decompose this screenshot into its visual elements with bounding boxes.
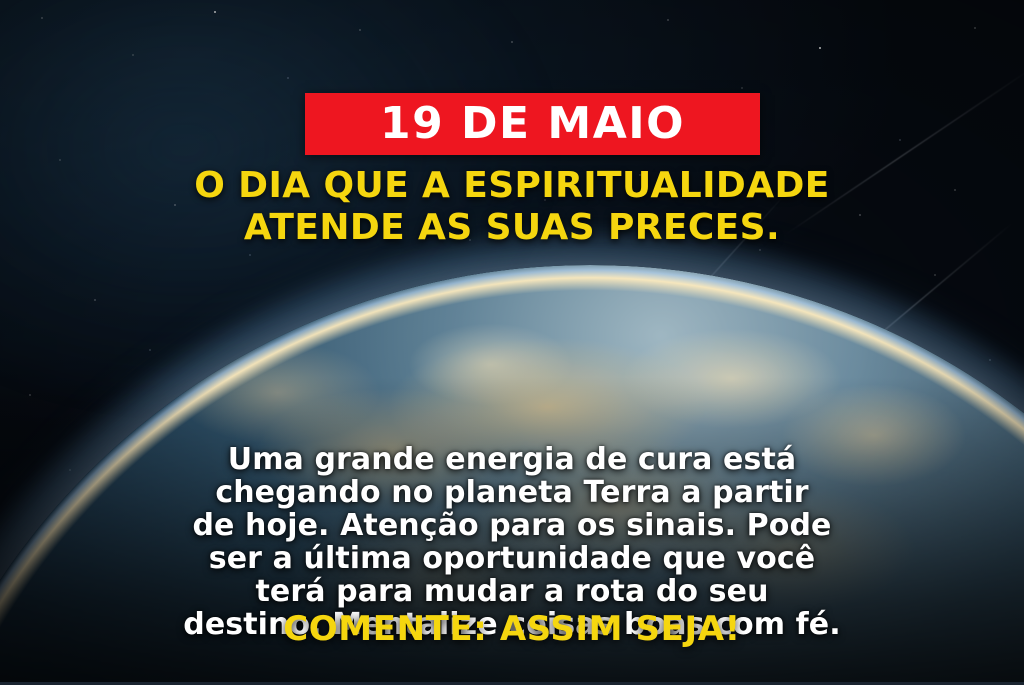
headline: O DIA QUE A ESPIRITUALIDADE ATENDE AS SU… [0, 165, 1024, 249]
body-line-5: terá para mudar a rota do seu [0, 575, 1024, 608]
body-line-2: chegando no planeta Terra a partir [0, 476, 1024, 509]
date-banner-label: 19 DE MAIO [380, 102, 685, 146]
body-line-1: Uma grande energia de cura está [0, 443, 1024, 476]
body-line-4: ser a última oportunidade que você [0, 542, 1024, 575]
body-line-3: de hoje. Atenção para os sinais. Pode [0, 509, 1024, 542]
call-to-action-text: COMENTE: ASSIM SEJA! [0, 610, 1024, 648]
poster-content: 19 DE MAIO O DIA QUE A ESPIRITUALIDADE A… [0, 0, 1024, 685]
date-banner: 19 DE MAIO [305, 93, 760, 155]
headline-line-1: O DIA QUE A ESPIRITUALIDADE [0, 165, 1024, 207]
poster-canvas: 19 DE MAIO O DIA QUE A ESPIRITUALIDADE A… [0, 0, 1024, 685]
headline-line-2: ATENDE AS SUAS PRECES. [0, 207, 1024, 249]
